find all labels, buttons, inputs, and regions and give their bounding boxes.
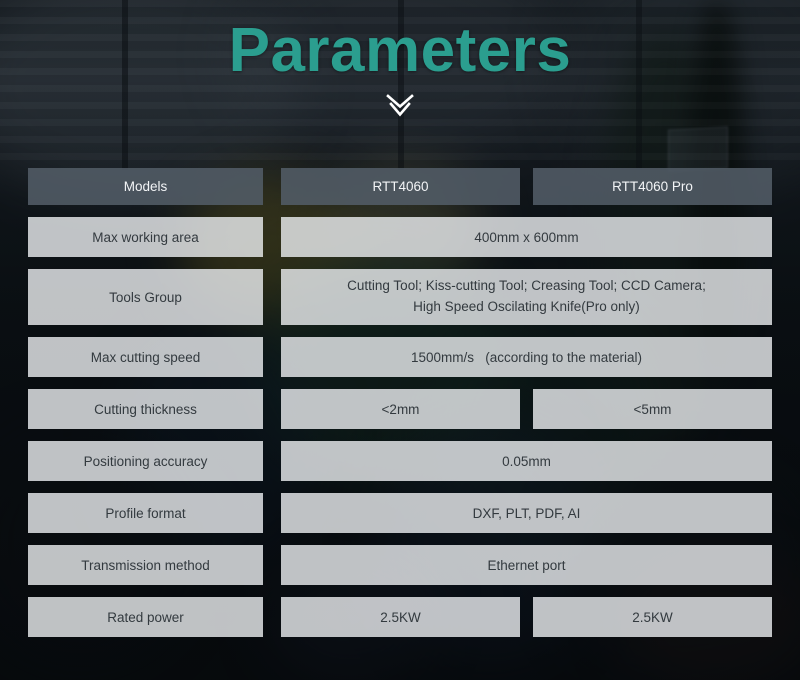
table-row: Profile format DXF, PLT, PDF, AI xyxy=(28,493,772,533)
header-cell-models: Models xyxy=(28,168,263,205)
row-value-line-1: Cutting Tool; Kiss-cutting Tool; Creasin… xyxy=(347,276,706,297)
table-row: Positioning accuracy 0.05mm xyxy=(28,441,772,481)
page-header: Parameters xyxy=(0,16,800,124)
row-label: Transmission method xyxy=(28,545,263,585)
table-row: Tools Group Cutting Tool; Kiss-cutting T… xyxy=(28,269,772,325)
row-value-col-2: <5mm xyxy=(533,389,772,429)
table-row: Transmission method Ethernet port xyxy=(28,545,772,585)
row-label: Cutting thickness xyxy=(28,389,263,429)
row-value-line-2: High Speed Oscilating Knife(Pro only) xyxy=(347,297,706,318)
table-row: Max cutting speed 1500mm/s (according to… xyxy=(28,337,772,377)
row-label: Rated power xyxy=(28,597,263,637)
row-label: Positioning accuracy xyxy=(28,441,263,481)
table-row: Cutting thickness <2mm <5mm xyxy=(28,389,772,429)
row-value-col-1: 2.5KW xyxy=(281,597,520,637)
page-title: Parameters xyxy=(0,16,800,85)
row-value: Cutting Tool; Kiss-cutting Tool; Creasin… xyxy=(281,269,772,325)
row-value-col-1: <2mm xyxy=(281,389,520,429)
table-row: Max working area 400mm x 600mm xyxy=(28,217,772,257)
parameters-page: Parameters Models RTT4060 RTT4060 Pro Ma… xyxy=(0,0,800,680)
double-chevron-down-icon xyxy=(385,93,415,119)
row-label: Tools Group xyxy=(28,269,263,325)
row-label: Profile format xyxy=(28,493,263,533)
row-label: Max working area xyxy=(28,217,263,257)
row-value: 400mm x 600mm xyxy=(281,217,772,257)
table-header-row: Models RTT4060 RTT4060 Pro xyxy=(28,168,772,205)
header-cell-model-2: RTT4060 Pro xyxy=(533,168,772,205)
row-value: 0.05mm xyxy=(281,441,772,481)
row-value-col-2: 2.5KW xyxy=(533,597,772,637)
table-row: Rated power 2.5KW 2.5KW xyxy=(28,597,772,637)
row-label: Max cutting speed xyxy=(28,337,263,377)
parameters-table: Models RTT4060 RTT4060 Pro Max working a… xyxy=(28,168,772,637)
row-value: DXF, PLT, PDF, AI xyxy=(281,493,772,533)
row-value: Ethernet port xyxy=(281,545,772,585)
row-value: 1500mm/s (according to the material) xyxy=(281,337,772,377)
header-cell-model-1: RTT4060 xyxy=(281,168,520,205)
